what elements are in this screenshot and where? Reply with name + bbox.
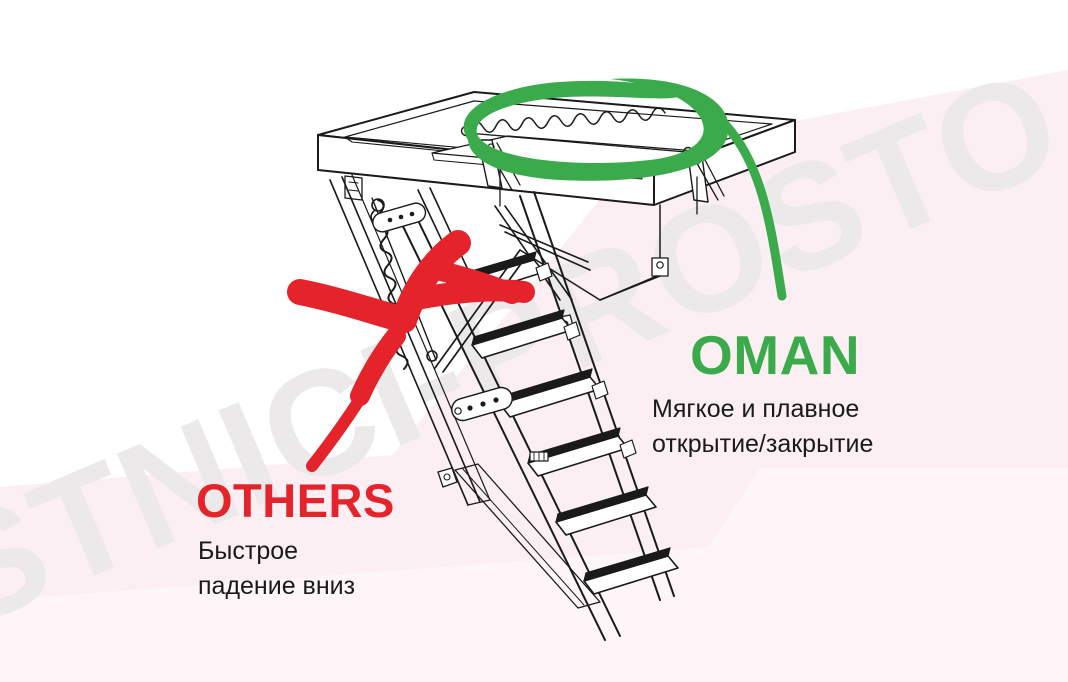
oman-description: Мягкое и плавное открытие/закрытие [652, 392, 873, 461]
oman-description-line-1: Мягкое и плавное [652, 392, 873, 427]
diagram-canvas: LESTNICI-PROSTO.RU [0, 0, 1068, 682]
oman-label-block: OMAN Мягкое и плавное открытие/закрытие [690, 328, 873, 461]
others-description-line-1: Быстрое [198, 534, 395, 569]
others-label-block: OTHERS Быстрое падение вниз [196, 477, 395, 603]
others-description-line-2: падение вниз [198, 569, 395, 604]
others-title: OTHERS [196, 477, 395, 524]
oman-description-line-2: открытие/закрытие [652, 427, 873, 462]
label-layer: OMAN Мягкое и плавное открытие/закрытие … [0, 0, 1068, 682]
oman-title: OMAN [690, 328, 873, 383]
others-description: Быстрое падение вниз [198, 534, 395, 603]
